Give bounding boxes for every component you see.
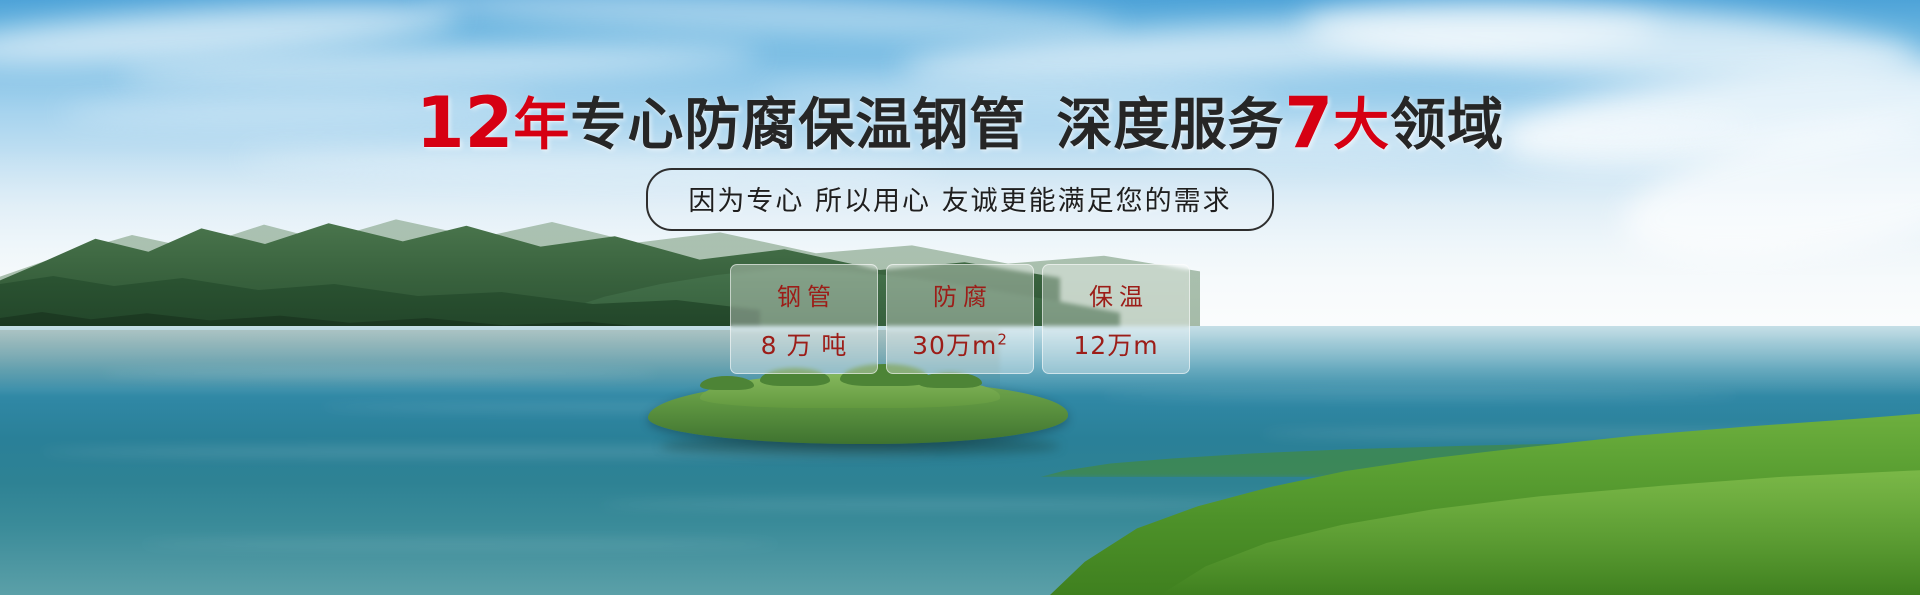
headline-fields-unit: 大 bbox=[1333, 93, 1390, 158]
subtitle-pill: 因为专心 所以用心 友诚更能满足您的需求 bbox=[646, 168, 1273, 231]
stat-card-value-text: 12万m bbox=[1073, 331, 1158, 360]
stat-card-insulation[interactable]: 保温 12万m bbox=[1042, 264, 1190, 374]
stat-card-value: 30万m2 bbox=[912, 326, 1008, 362]
headline-years-unit: 年 bbox=[513, 93, 570, 158]
headline-main-phrase: 专心防腐保温钢管 bbox=[570, 93, 1026, 158]
stat-card-value-text: 8 万 吨 bbox=[761, 331, 848, 360]
stat-card-steel-pipe[interactable]: 钢管 8 万 吨 bbox=[730, 264, 878, 374]
stat-card-value-text: 30万m bbox=[912, 331, 997, 360]
grass-tuft bbox=[918, 372, 982, 388]
headline-fields-number: 7 bbox=[1284, 82, 1333, 164]
stat-card-group: 钢管 8 万 吨 防腐 30万m2 保温 12万m bbox=[0, 264, 1920, 374]
stat-card-value-exponent: 2 bbox=[997, 330, 1008, 348]
stat-card-value: 8 万 吨 bbox=[761, 326, 848, 362]
grass-tuft bbox=[700, 376, 754, 390]
stat-card-label: 保温 bbox=[1083, 277, 1149, 312]
headline-service-phrase: 深度服务 bbox=[1056, 93, 1284, 158]
stat-card-label: 钢管 bbox=[771, 277, 837, 312]
headline-years-number: 12 bbox=[416, 82, 513, 164]
headline: 12年专心防腐保温钢管深度服务7大领域 bbox=[0, 88, 1920, 158]
water-ripple bbox=[140, 540, 780, 548]
stat-card-label: 防腐 bbox=[927, 277, 993, 312]
water-ripple bbox=[1100, 392, 1740, 398]
subtitle-container: 因为专心 所以用心 友诚更能满足您的需求 bbox=[0, 168, 1920, 231]
headline-fields-suffix: 领域 bbox=[1390, 93, 1504, 158]
hero-banner: 12年专心防腐保温钢管深度服务7大领域 因为专心 所以用心 友诚更能满足您的需求… bbox=[0, 0, 1920, 595]
stat-card-value: 12万m bbox=[1073, 326, 1158, 362]
stat-card-anticorrosion[interactable]: 防腐 30万m2 bbox=[886, 264, 1034, 374]
